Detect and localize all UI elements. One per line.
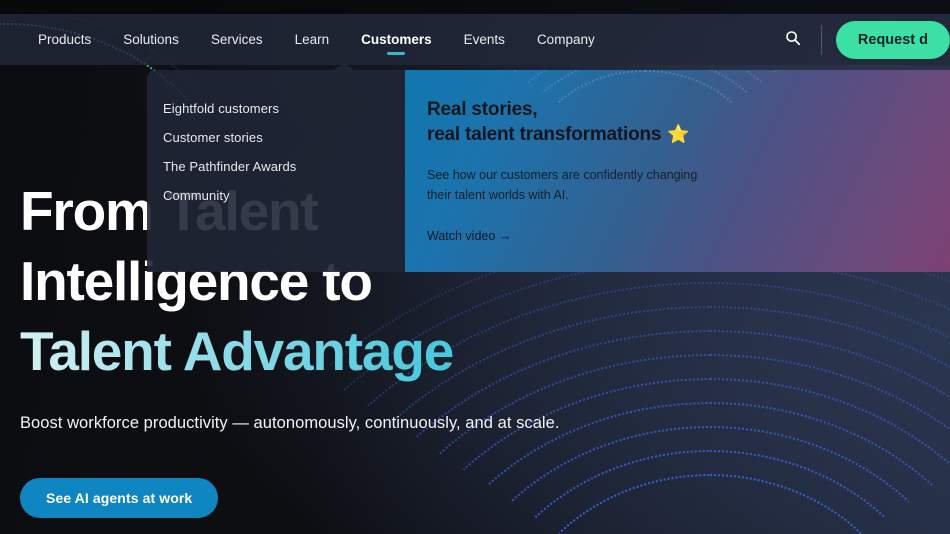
dropdown-baseline [0,272,950,274]
nav-item-services[interactable]: Services [195,14,279,65]
nav-divider [821,25,822,55]
main-navbar: i Products Solutions Services Learn Cust… [0,14,950,65]
dropdown-item-customer-stories[interactable]: Customer stories [163,123,405,152]
nav-item-events[interactable]: Events [448,14,521,65]
dropdown-item-eightfold-customers[interactable]: Eightfold customers [163,94,405,123]
promo-title-line-2-wrap: real talent transformations⭐ [427,122,924,147]
active-tab-underline [387,52,405,55]
promo-title-line-1: Real stories, [427,98,924,122]
promo-body-text: See how our customers are confidently ch… [427,165,712,205]
promo-decorative-dots [435,70,855,240]
nav-right-actions: Request d [771,14,950,65]
top-strip-dots [0,0,950,14]
nav-links: Products Solutions Services Learn Custom… [22,14,611,65]
watch-video-link[interactable]: Watch video → [427,229,511,243]
search-button[interactable] [771,14,815,65]
request-demo-button[interactable]: Request d [836,21,950,59]
page-root: From Talent Intelligence to Talent Advan… [0,0,950,534]
nav-item-label: Solutions [123,32,179,47]
see-ai-agents-button[interactable]: See AI agents at work [20,478,218,518]
star-icon: ⭐ [667,124,689,144]
dropdown-promo-panel[interactable]: Real stories, real talent transformation… [405,70,950,272]
headline-line-3: Talent Advantage [20,316,560,386]
nav-item-label: Learn [295,32,330,47]
nav-item-label: Events [464,32,505,47]
hero-subheadline: Boost workforce productivity — autonomou… [20,414,560,433]
nav-item-solutions[interactable]: Solutions [107,14,195,65]
dropdown-item-community[interactable]: Community [163,181,405,210]
promo-title: Real stories, real talent transformation… [427,98,924,147]
nav-item-label: Services [211,32,263,47]
nav-item-products[interactable]: Products [22,14,107,65]
nav-item-customers[interactable]: Customers [345,14,448,65]
nav-item-label: Products [38,32,91,47]
customers-dropdown-menu: Eightfold customers Customer stories The… [147,70,950,272]
dropdown-link-list: Eightfold customers Customer stories The… [147,70,405,272]
nav-item-label: Company [537,32,595,47]
nav-item-company[interactable]: Company [521,14,611,65]
dropdown-item-pathfinder-awards[interactable]: The Pathfinder Awards [163,152,405,181]
nav-item-learn[interactable]: Learn [279,14,346,65]
promo-title-line-2: real talent transformations [427,124,661,145]
nav-item-label: Customers [361,32,432,47]
search-icon [785,30,801,49]
